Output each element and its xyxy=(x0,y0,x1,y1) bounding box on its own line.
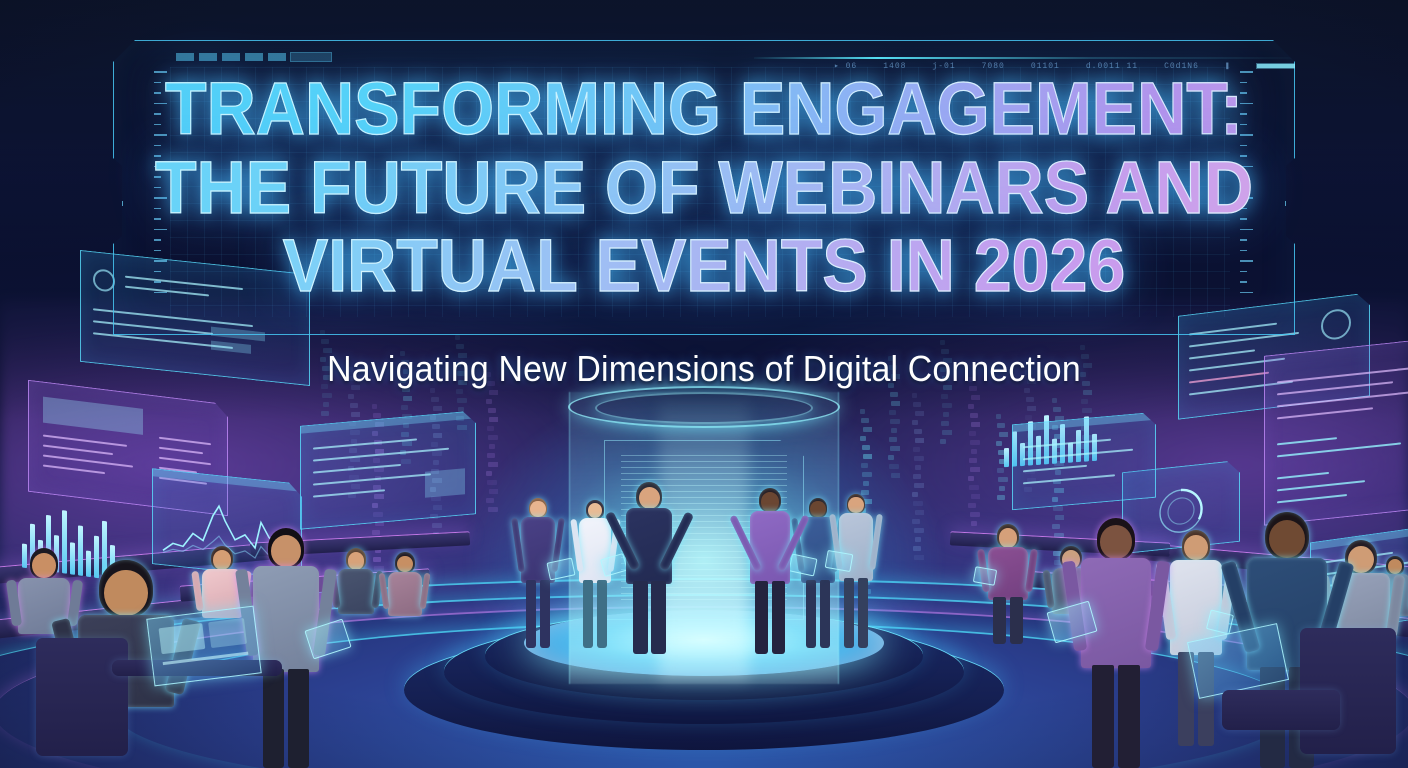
laptop-device xyxy=(146,606,261,687)
speaker-3-presenter-center xyxy=(624,482,674,654)
chair-right-back xyxy=(1222,690,1340,730)
attendee-right-standing-purple xyxy=(1078,518,1154,768)
figure-leg xyxy=(858,578,869,648)
figure-leg xyxy=(1092,665,1115,768)
figure-leg xyxy=(263,669,285,768)
figure-head xyxy=(271,535,301,567)
figure-head xyxy=(1184,535,1208,560)
figure-torso xyxy=(750,511,790,584)
title-block: Transforming Engagement: The Future of W… xyxy=(0,74,1408,301)
figure-leg xyxy=(597,580,607,648)
speaker-6-woman-right xyxy=(838,494,874,648)
title-line-2: The Future of Webinars and xyxy=(56,153,1351,223)
figure-torso xyxy=(388,572,423,616)
title-line-1: Transforming Engagement: xyxy=(56,74,1351,144)
figure-leg xyxy=(1118,665,1141,768)
attendee-right-standing-1 xyxy=(986,524,1030,644)
figure-leg xyxy=(526,580,537,648)
subtitle: Navigating New Dimensions of Digital Con… xyxy=(42,348,1366,390)
figure-torso xyxy=(338,569,375,614)
figure-head xyxy=(810,501,825,517)
figure-leg xyxy=(993,597,1006,644)
figure-head xyxy=(348,552,365,570)
figure-head xyxy=(761,492,779,511)
title-line-3: Virtual Events in 2026 xyxy=(56,231,1351,301)
chair-left-front xyxy=(36,638,128,756)
figure-leg xyxy=(844,578,855,648)
speaker-1-standing-left xyxy=(520,498,556,648)
figure-head xyxy=(1269,520,1305,558)
figure-leg xyxy=(288,669,310,768)
figure-head xyxy=(32,553,56,578)
hud-scan-line xyxy=(754,57,1314,59)
figure-head xyxy=(639,487,660,509)
figure-torso xyxy=(626,508,672,584)
figure-leg xyxy=(755,581,768,654)
figure-leg xyxy=(772,581,785,654)
figure-head xyxy=(1100,525,1132,559)
attendee-left-seated-5 xyxy=(386,552,424,652)
figure-leg xyxy=(540,580,551,648)
holo-panel-upper-right xyxy=(1012,412,1156,511)
figure-leg xyxy=(1010,597,1023,644)
figure-leg xyxy=(820,580,831,648)
figure-head xyxy=(213,550,231,569)
figure-head xyxy=(999,528,1017,547)
speaker-4-woman-purple xyxy=(748,488,792,654)
figure-head xyxy=(530,501,545,517)
figure-head xyxy=(104,570,148,616)
figure-torso xyxy=(253,566,319,672)
hud-status-chips xyxy=(176,53,331,61)
figure-leg xyxy=(651,581,666,654)
hero-banner: ▸ 06 1408 j-01 7080 01101 d.0011 11 C0d1… xyxy=(0,0,1408,768)
speaker-2-standing-woman xyxy=(578,500,612,648)
holo-panel-upper-left xyxy=(300,410,476,529)
figure-leg xyxy=(583,580,593,648)
figure-leg xyxy=(633,581,648,654)
figure-leg xyxy=(806,580,817,648)
attendee-left-standing-woman xyxy=(250,528,322,768)
figure-head xyxy=(848,497,863,513)
